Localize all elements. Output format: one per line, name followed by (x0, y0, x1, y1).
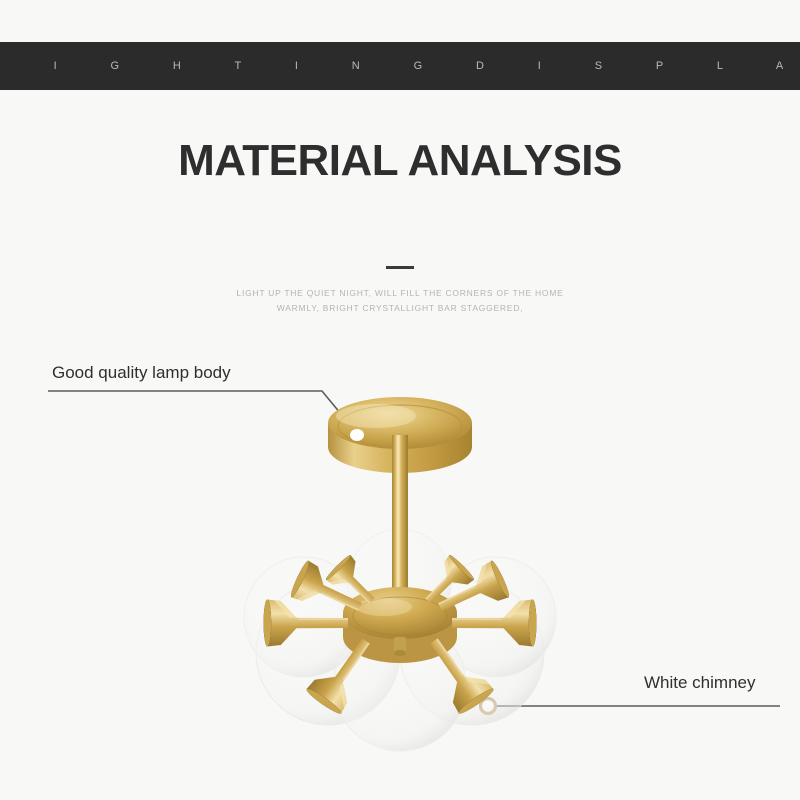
chandelier-illustration (200, 385, 600, 755)
page-title: MATERIAL ANALYSIS (0, 136, 800, 186)
canopy-screw-hole (350, 429, 364, 441)
callout-label-white-chimney: White chimney (644, 673, 755, 693)
page-subtitle: LIGHT UP THE QUIET NIGHT, WILL FILL THE … (0, 286, 800, 316)
title-divider (386, 266, 414, 269)
lighting-display-banner: L I G H T I N G D I S P L A Y (0, 42, 800, 90)
subtitle-line-1: LIGHT UP THE QUIET NIGHT, WILL FILL THE … (0, 286, 800, 301)
callout-label-lamp-body: Good quality lamp body (52, 363, 231, 383)
banner-label: L I G H T I N G D I S P L A Y (0, 60, 800, 72)
subtitle-line-2: WARMLY, BRIGHT CRYSTALLIGHT BAR STAGGERE… (0, 301, 800, 316)
drop-rod (392, 435, 408, 605)
product-infographic-page: L I G H T I N G D I S P L A Y MATERIAL A… (0, 0, 800, 800)
